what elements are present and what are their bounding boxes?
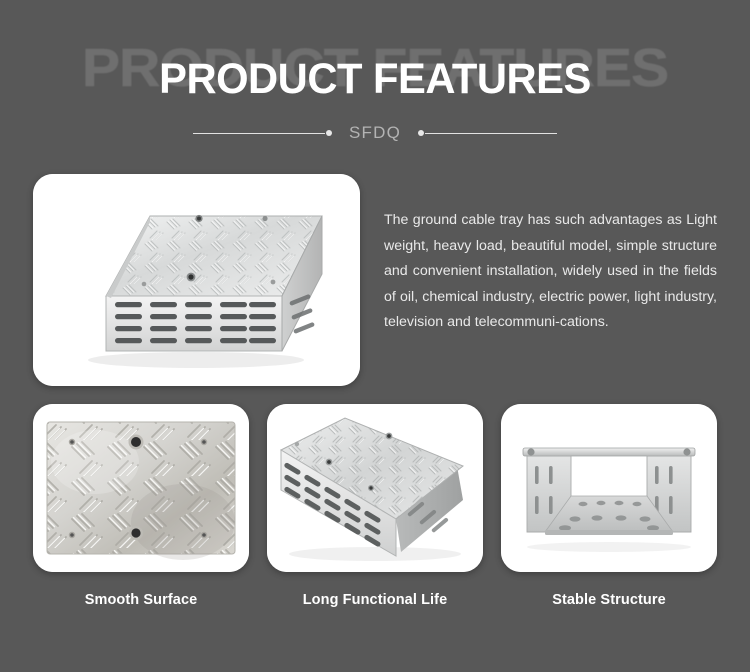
- feature-image-card-1: [33, 404, 249, 572]
- feature-caption-2: Long Functional Life: [267, 592, 483, 608]
- divider-line-left: [193, 133, 325, 134]
- feature-image-1: [33, 404, 249, 572]
- feature-item-long-functional-life[interactable]: Long Functional Life: [267, 404, 483, 614]
- feature-caption-1: Smooth Surface: [33, 592, 249, 608]
- page-title: PRODUCT FEATURES: [11, 57, 739, 101]
- feature-item-stable-structure[interactable]: Stable Structure: [501, 404, 717, 614]
- title-divider: SFDQ: [0, 120, 750, 146]
- hero-image-card: [33, 174, 360, 386]
- features-section: Smooth Surface: [33, 404, 717, 614]
- feature-image-card-2: [267, 404, 483, 572]
- divider-dot-left: [326, 130, 332, 136]
- divider-brand-label: SFDQ: [333, 123, 417, 143]
- page-header: PRODUCT FEATURES PRODUCT FEATURES SFDQ: [0, 0, 750, 160]
- hero-product-image: [33, 174, 360, 386]
- feature-item-smooth-surface[interactable]: Smooth Surface: [33, 404, 249, 614]
- hero-description: The ground cable tray has such advantage…: [384, 208, 717, 336]
- feature-image-card-3: [501, 404, 717, 572]
- divider-line-right: [425, 133, 557, 134]
- divider-dot-right: [418, 130, 424, 136]
- feature-image-2: [267, 404, 483, 572]
- hero-section: The ground cable tray has such advantage…: [33, 174, 717, 386]
- feature-image-3: [501, 404, 717, 572]
- feature-caption-3: Stable Structure: [501, 592, 717, 608]
